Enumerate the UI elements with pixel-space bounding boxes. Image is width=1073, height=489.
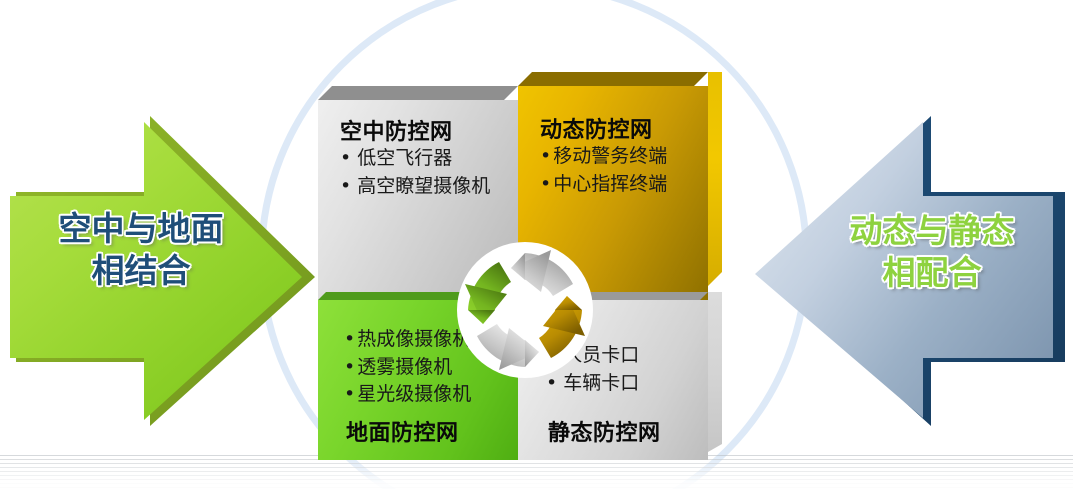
list-item: 低空飞行器 <box>340 145 518 173</box>
left-arrow-shape[interactable]: 空中与地面 相结合 <box>4 96 322 426</box>
quadrant-dynamic-right-bevel <box>708 72 722 286</box>
left-arrow-label-line1: 空中与地面 <box>59 209 224 248</box>
quadrant-dynamic-title: 动态防控网 <box>540 118 708 143</box>
quadrant-air-top-bevel <box>318 86 518 100</box>
floor-reflection <box>0 455 1073 489</box>
left-arrow-label: 空中与地面 相结合 <box>26 208 256 292</box>
quadrant-dynamic-top-bevel <box>518 72 708 86</box>
quadrant-air-list: 低空飞行器 高空瞭望摄像机 <box>340 145 518 200</box>
left-arrow-label-line2: 相结合 <box>26 250 256 292</box>
quadrant-ground-title: 地面防控网 <box>344 421 518 460</box>
list-item: 星光级摄像机 <box>344 381 518 409</box>
list-item: 移动警务终端 <box>540 143 708 171</box>
quadrant-static-right-bevel <box>708 292 722 452</box>
list-item: 高空瞭望摄像机 <box>340 173 518 201</box>
cyclic-arrows-icon[interactable] <box>455 240 595 380</box>
right-arrow-label-line2: 相配合 <box>817 252 1047 294</box>
cyclic-arrows-svg <box>455 240 595 380</box>
quadrant-air-title: 空中防控网 <box>340 120 518 145</box>
list-item: 中心指挥终端 <box>540 171 708 199</box>
right-arrow-label: 动态与静态 相配合 <box>817 210 1047 294</box>
right-arrow-shape[interactable]: 动态与静态 相配合 <box>745 96 1070 426</box>
right-arrow-label-line1: 动态与静态 <box>850 211 1015 250</box>
diagram-canvas: 空中与地面 相结合 <box>0 0 1073 489</box>
quadrant-static-title: 静态防控网 <box>546 421 708 460</box>
quadrant-dynamic-list: 移动警务终端 中心指挥终端 <box>540 143 708 198</box>
